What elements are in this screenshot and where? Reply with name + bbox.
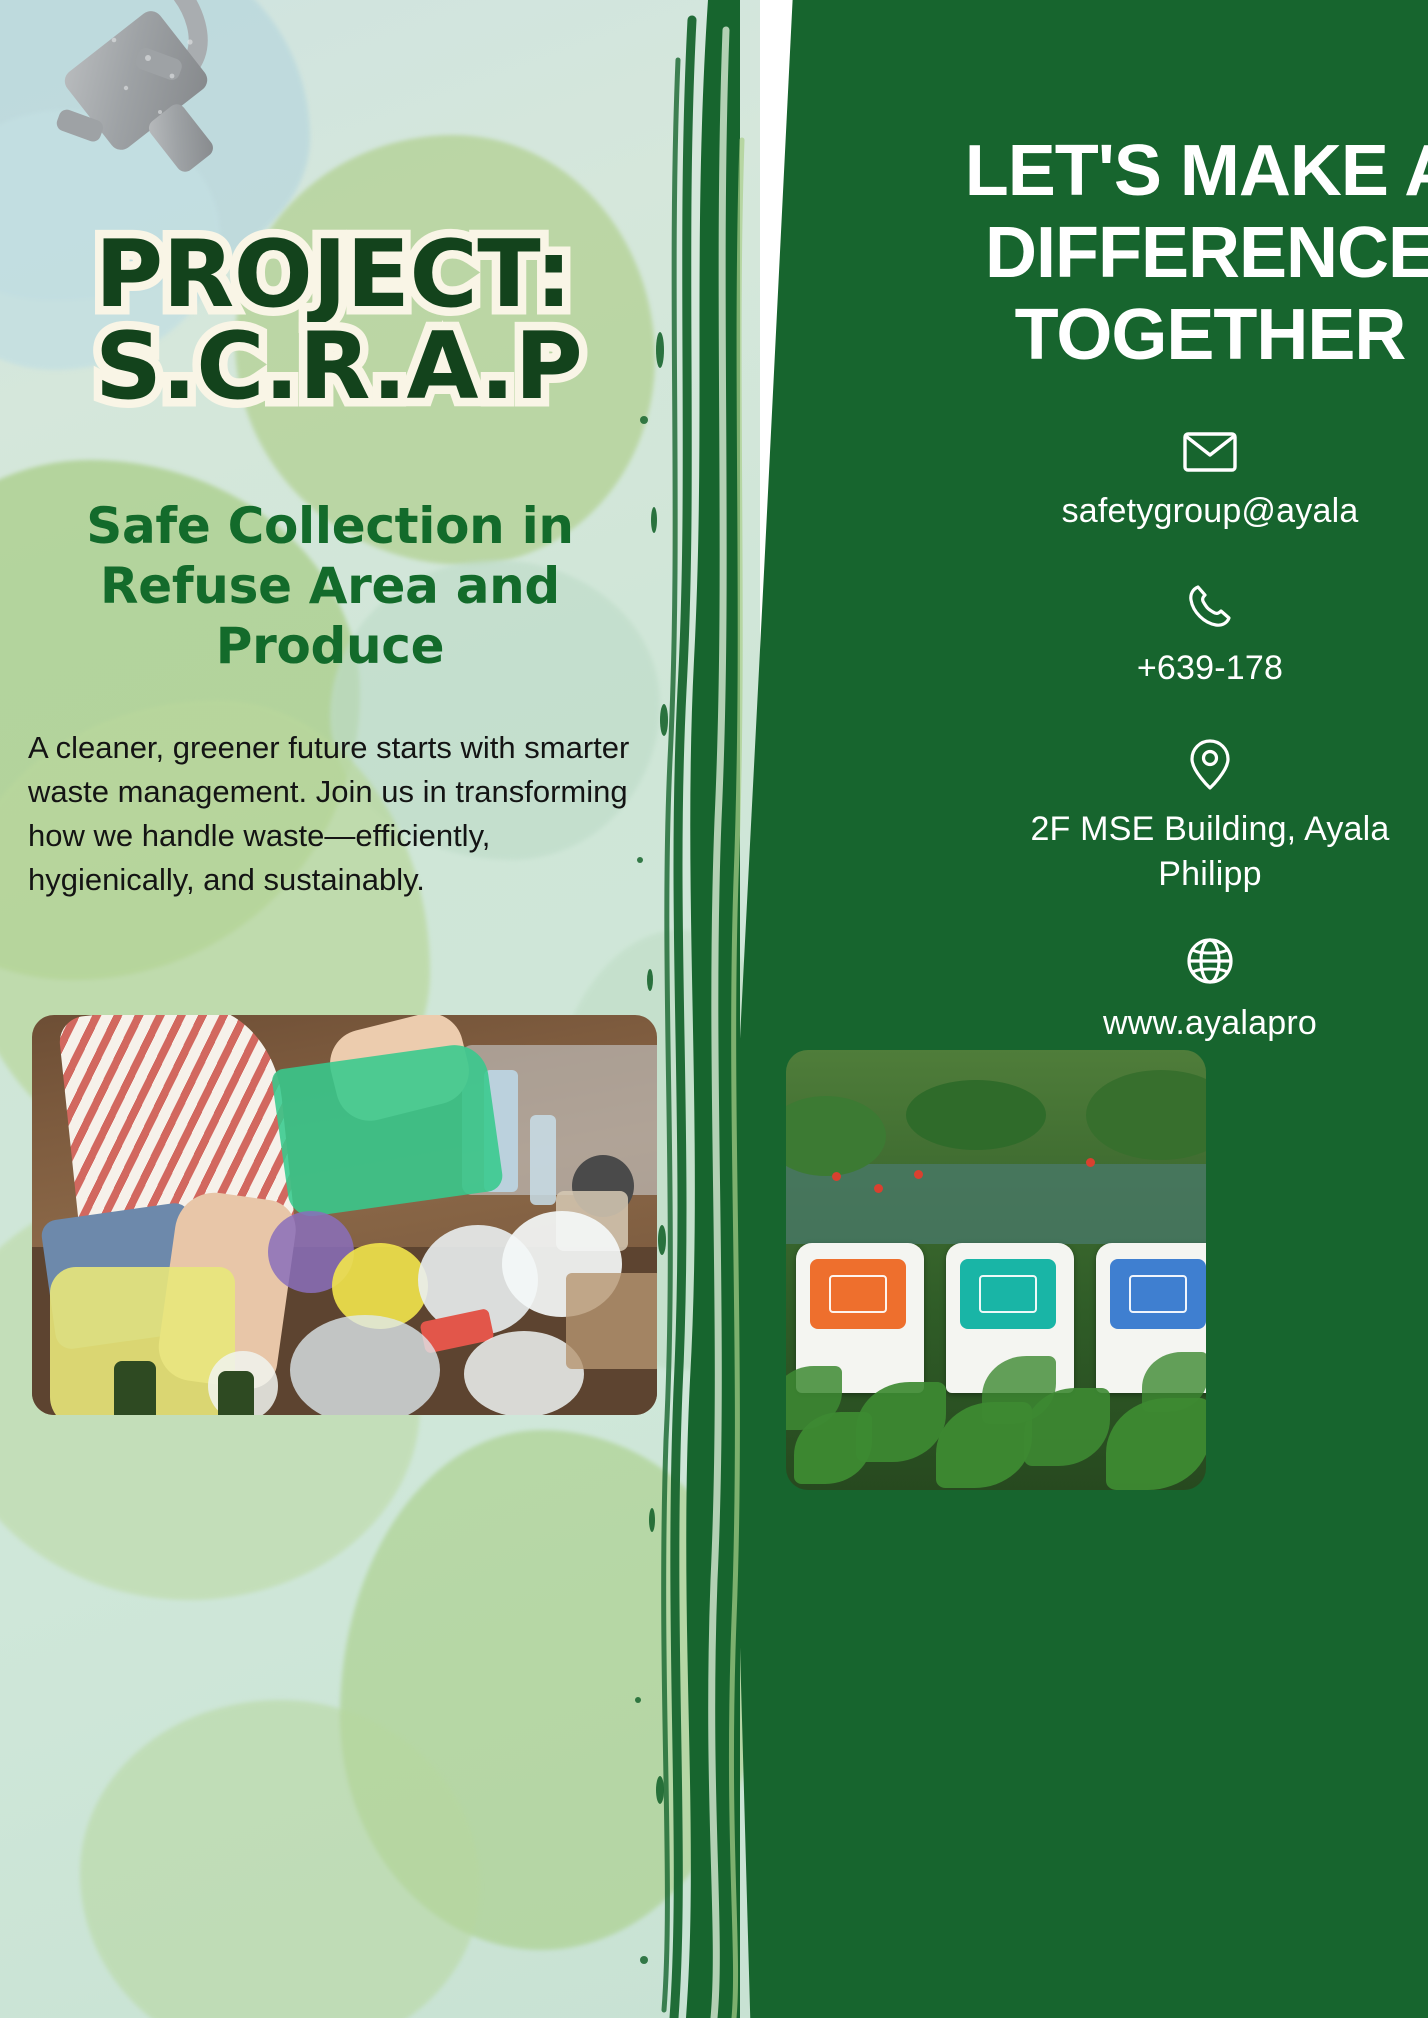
photo-plastic-bottle — [530, 1115, 556, 1205]
electric-plug-illustration — [30, 0, 310, 250]
photo-shrub — [906, 1080, 1046, 1150]
photo-glass-bottle — [114, 1361, 156, 1415]
contact-row-address[interactable]: 2F MSE Building, Ayala Philipp — [830, 738, 1428, 895]
spacer — [830, 539, 1428, 581]
title-line-2: S.C.R.A.P — [95, 320, 655, 412]
email-value: safetygroup@ayala — [830, 489, 1428, 533]
contact-row-phone[interactable]: +639-178 — [830, 581, 1428, 690]
contact-block: safetygroup@ayala +639-178 2F MSE Buildi… — [830, 430, 1428, 1051]
photo-cardboard — [566, 1273, 657, 1369]
bin-label-orange — [810, 1259, 906, 1329]
waste-sorting-photo — [32, 1015, 657, 1415]
photo-plastic-film — [290, 1315, 440, 1415]
poster-canvas: PROJECT: S.C.R.A.P Safe Collection in Re… — [0, 0, 1428, 2018]
contact-row-website[interactable]: www.ayalapro — [830, 936, 1428, 1045]
bin-label-blue — [1110, 1259, 1206, 1329]
contact-row-email[interactable]: safetygroup@ayala — [830, 430, 1428, 533]
photo-pond — [786, 1164, 1206, 1243]
photo-glass-bottle — [218, 1371, 254, 1415]
photo-flower — [874, 1184, 883, 1193]
page-title: PROJECT: S.C.R.A.P — [95, 228, 655, 412]
panel-headline: LET'S MAKE A DIFFERENCE TOGETHER — [830, 130, 1428, 376]
address-line-1: 2F MSE Building, Ayala — [830, 807, 1428, 851]
photo-flower — [914, 1170, 923, 1179]
photo-flower — [832, 1172, 841, 1181]
recycle-glyph-icon — [829, 1275, 887, 1313]
recycle-glyph-icon — [1129, 1275, 1187, 1313]
photo-flower — [1086, 1158, 1095, 1167]
globe-icon — [830, 936, 1428, 991]
recycling-bins-photo — [786, 1050, 1206, 1490]
envelope-icon — [830, 430, 1428, 479]
bin-label-teal — [960, 1259, 1056, 1329]
spacer — [830, 902, 1428, 936]
subtitle: Safe Collection in Refuse Area and Produ… — [30, 496, 630, 676]
photo-green-bag — [271, 1041, 505, 1219]
recycle-glyph-icon — [979, 1275, 1037, 1313]
spacer — [830, 696, 1428, 738]
website-value: www.ayalapro — [830, 1001, 1428, 1045]
phone-value: +639-178 — [830, 646, 1428, 690]
address-line-2: Philipp — [830, 852, 1428, 896]
phone-icon — [830, 581, 1428, 636]
body-paragraph: A cleaner, greener future starts with sm… — [28, 726, 648, 902]
location-pin-icon — [830, 738, 1428, 797]
